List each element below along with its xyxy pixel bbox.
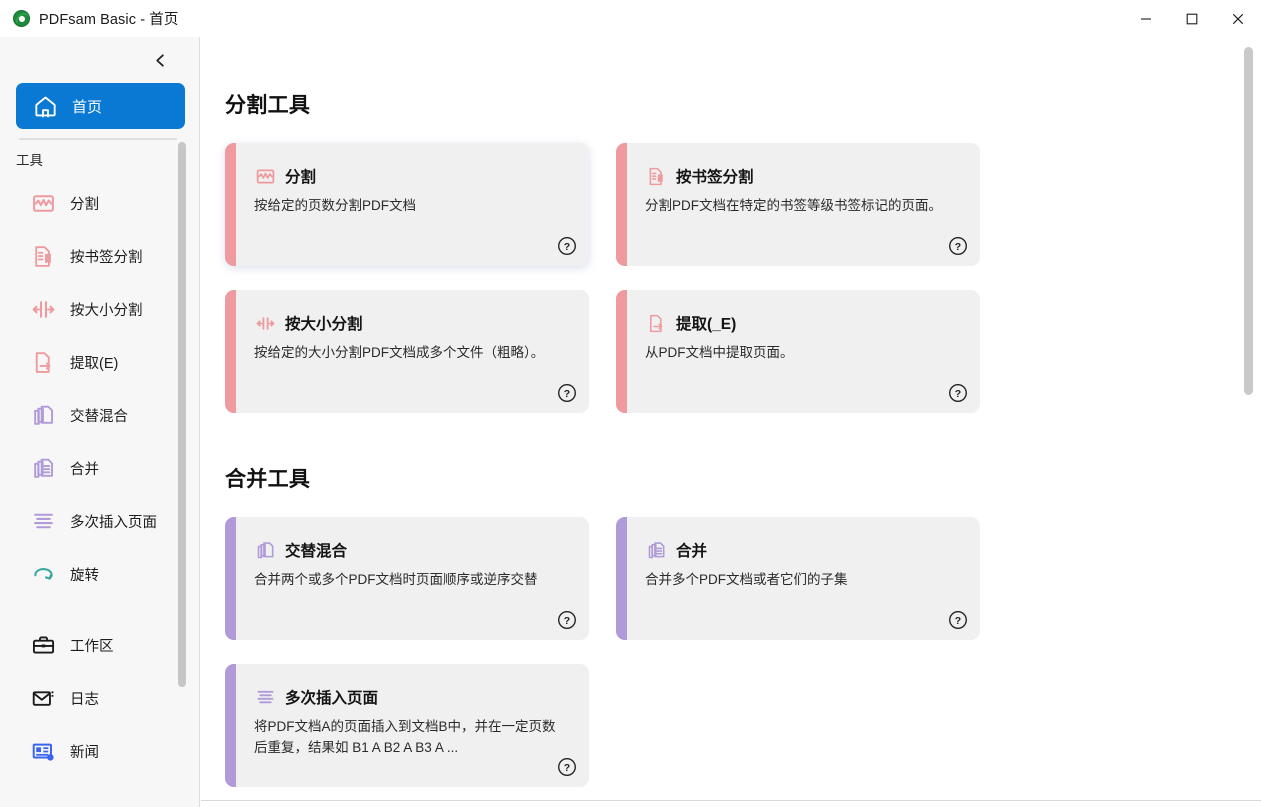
card-accent-bar [616, 290, 627, 413]
window-title: PDFsam Basic - 首页 [39, 8, 178, 29]
card-title: 按书签分割 [676, 165, 754, 187]
sidebar-item-insert-pages-label: 多次插入页面 [70, 511, 157, 532]
sidebar-item-workspace[interactable]: 工作区 [0, 619, 199, 672]
close-icon [1232, 13, 1244, 25]
card-accent-bar [225, 143, 236, 266]
maximize-button[interactable] [1169, 0, 1215, 37]
split-by-size-icon [254, 312, 276, 334]
card-header: 合并 [645, 539, 962, 561]
help-circle-icon[interactable]: ? [948, 610, 968, 630]
split-by-size-icon [30, 297, 56, 323]
content-wrapper: 分割工具 分割 [201, 37, 1261, 787]
help-circle-icon[interactable]: ? [948, 383, 968, 403]
card-body: 分割 按给定的页数分割PDF文档 ? [236, 143, 589, 266]
news-icon [30, 739, 56, 765]
sidebar-item-split[interactable]: 分割 [0, 177, 199, 230]
sidebar-item-merge-label: 合并 [70, 458, 99, 479]
insert-pages-icon [30, 509, 56, 535]
card-description: 从PDF文档中提取页面。 [645, 343, 955, 364]
card-description: 合并多个PDF文档或者它们的子集 [645, 570, 955, 591]
insert-pages-icon [254, 686, 276, 708]
card-body: 合并 合并多个PDF文档或者它们的子集 ? [627, 517, 980, 640]
section-title-split: 分割工具 [225, 89, 1261, 119]
title-bar-left: PDFsam Basic - 首页 [0, 8, 178, 29]
rotate-icon [30, 562, 56, 588]
help-circle-icon[interactable]: ? [557, 383, 577, 403]
sidebar-item-news[interactable]: 新闻 [0, 725, 199, 778]
alternate-mix-icon [254, 539, 276, 561]
split-icon [30, 191, 56, 217]
svg-text:?: ? [955, 389, 961, 400]
sidebar-item-split-by-bookmarks[interactable]: 按书签分割 [0, 230, 199, 283]
sidebar-scrollbar-thumb[interactable] [178, 142, 186, 687]
card-description: 合并两个或多个PDF文档时页面顺序或逆序交替 [254, 570, 564, 591]
card-body: 多次插入页面 将PDF文档A的页面插入到文档B中，并在一定页数后重复，结果如 B… [236, 664, 589, 787]
card-description: 按给定的大小分割PDF文档成多个文件（粗略）。 [254, 343, 564, 364]
close-button[interactable] [1215, 0, 1261, 37]
sidebar-item-extract[interactable]: 提取(E) [0, 336, 199, 389]
sidebar-item-rotate-label: 旋转 [70, 564, 99, 585]
sidebar-item-rotate[interactable]: 旋转 [0, 548, 199, 601]
sidebar-item-merge[interactable]: 合并 [0, 442, 199, 495]
sidebar-divider [19, 138, 177, 140]
card-accent-bar [225, 517, 236, 640]
main-scrollbar-thumb[interactable] [1244, 47, 1253, 395]
card-body: 交替混合 合并两个或多个PDF文档时页面顺序或逆序交替 ? [236, 517, 589, 640]
card-accent-bar [225, 664, 236, 787]
home-icon [32, 93, 58, 119]
svg-text:?: ? [564, 763, 570, 774]
card-title: 分割 [285, 165, 316, 187]
chevron-left-icon [153, 53, 168, 68]
card-accent-bar [225, 290, 236, 413]
sidebar-item-split-label: 分割 [70, 193, 99, 214]
split-icon [254, 165, 276, 187]
card-title: 多次插入页面 [285, 686, 378, 708]
card-accent-bar [616, 143, 627, 266]
card-header: 交替混合 [254, 539, 571, 561]
tool-card-merge[interactable]: 合并 合并多个PDF文档或者它们的子集 ? [616, 517, 980, 640]
sidebar-item-logs-label: 日志 [70, 688, 99, 709]
sidebar-item-alternate-mix-label: 交替混合 [70, 405, 128, 426]
envelope-icon [30, 686, 56, 712]
section-title-merge: 合并工具 [225, 463, 1261, 493]
sidebar-collapse-button[interactable] [147, 47, 173, 73]
help-circle-icon[interactable]: ? [948, 236, 968, 256]
card-description: 将PDF文档A的页面插入到文档B中，并在一定页数后重复，结果如 B1 A B2 … [254, 717, 564, 759]
card-description: 分割PDF文档在特定的书签等级书签标记的页面。 [645, 196, 955, 217]
card-header: 多次插入页面 [254, 686, 571, 708]
sidebar-item-insert-pages[interactable]: 多次插入页面 [0, 495, 199, 548]
tool-card-insert-pages[interactable]: 多次插入页面 将PDF文档A的页面插入到文档B中，并在一定页数后重复，结果如 B… [225, 664, 589, 787]
extract-icon [645, 312, 667, 334]
sidebar-collapse-row [0, 37, 199, 83]
merge-icon [645, 539, 667, 561]
card-title: 合并 [676, 539, 707, 561]
sidebar: 首页 工具 分割 [0, 37, 200, 807]
sidebar-item-workspace-label: 工作区 [70, 635, 114, 656]
sidebar-item-logs[interactable]: 日志 [0, 672, 199, 725]
app-window: PDFsam Basic - 首页 [0, 0, 1261, 807]
sidebar-item-split-by-bookmarks-label: 按书签分割 [70, 246, 143, 267]
extract-icon [30, 350, 56, 376]
card-body: 按大小分割 按给定的大小分割PDF文档成多个文件（粗略）。 ? [236, 290, 589, 413]
pdfsam-logo-icon [13, 10, 30, 27]
title-bar: PDFsam Basic - 首页 [0, 0, 1261, 37]
svg-text:?: ? [564, 389, 570, 400]
sidebar-item-split-by-size[interactable]: 按大小分割 [0, 283, 199, 336]
minimize-button[interactable] [1123, 0, 1169, 37]
card-header: 按大小分割 [254, 312, 571, 334]
split-by-bookmarks-icon [30, 244, 56, 270]
sidebar-item-alternate-mix[interactable]: 交替混合 [0, 389, 199, 442]
tool-card-extract[interactable]: 提取(_E) 从PDF文档中提取页面。 ? [616, 290, 980, 413]
card-header: 按书签分割 [645, 165, 962, 187]
window-controls [1123, 0, 1261, 37]
help-circle-icon[interactable]: ? [557, 610, 577, 630]
news-badge-dot [47, 754, 53, 760]
sidebar-item-extract-label: 提取(E) [70, 352, 118, 373]
sidebar-spacer [0, 601, 199, 619]
card-title: 交替混合 [285, 539, 347, 561]
maximize-icon [1186, 13, 1198, 25]
sidebar-group-label: 工具 [0, 144, 199, 177]
sidebar-item-home[interactable]: 首页 [16, 83, 185, 129]
card-accent-bar [616, 517, 627, 640]
main-content: 分割工具 分割 [201, 37, 1261, 807]
minimize-icon [1140, 13, 1152, 25]
card-body: 按书签分割 分割PDF文档在特定的书签等级书签标记的页面。 ? [627, 143, 980, 266]
svg-text:?: ? [564, 242, 570, 253]
card-header: 分割 [254, 165, 571, 187]
card-body: 提取(_E) 从PDF文档中提取页面。 ? [627, 290, 980, 413]
card-title: 按大小分割 [285, 312, 363, 334]
sidebar-item-news-label: 新闻 [70, 741, 99, 762]
svg-text:?: ? [955, 616, 961, 627]
svg-text:?: ? [564, 616, 570, 627]
sidebar-item-split-by-size-label: 按大小分割 [70, 299, 143, 320]
help-circle-icon[interactable]: ? [557, 757, 577, 777]
tool-card-alternate-mix[interactable]: 交替混合 合并两个或多个PDF文档时页面顺序或逆序交替 ? [225, 517, 589, 640]
card-header: 提取(_E) [645, 312, 962, 334]
split-tools-grid: 分割 按给定的页数分割PDF文档 ? [225, 143, 1005, 413]
merge-tools-grid: 交替混合 合并两个或多个PDF文档时页面顺序或逆序交替 ? [225, 517, 1005, 787]
help-circle-icon[interactable]: ? [557, 236, 577, 256]
tool-card-split-by-bookmarks[interactable]: 按书签分割 分割PDF文档在特定的书签等级书签标记的页面。 ? [616, 143, 980, 266]
tool-card-split[interactable]: 分割 按给定的页数分割PDF文档 ? [225, 143, 589, 266]
svg-text:?: ? [955, 242, 961, 253]
card-title: 提取(_E) [676, 312, 736, 334]
tool-card-split-by-size[interactable]: 按大小分割 按给定的大小分割PDF文档成多个文件（粗略）。 ? [225, 290, 589, 413]
split-by-bookmarks-icon [645, 165, 667, 187]
bottom-divider [201, 800, 1261, 801]
alternate-mix-icon [30, 403, 56, 429]
sidebar-item-home-label: 首页 [72, 96, 102, 117]
merge-icon [30, 456, 56, 482]
card-description: 按给定的页数分割PDF文档 [254, 196, 564, 217]
briefcase-icon [30, 633, 56, 659]
